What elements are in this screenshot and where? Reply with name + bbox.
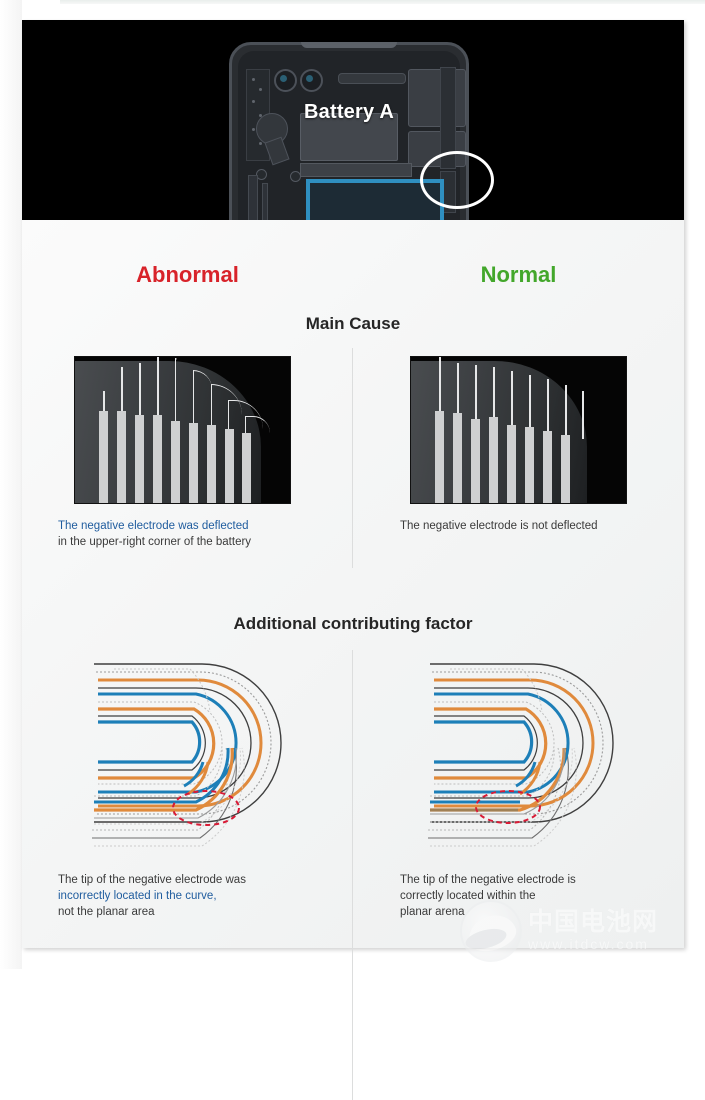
phone-teardown-illustration: Battery A — [229, 42, 469, 220]
section-title-additional-factor: Additional contributing factor — [22, 614, 684, 634]
column-header-abnormal: Abnormal — [22, 262, 353, 288]
column-header-normal: Normal — [353, 262, 684, 288]
column-divider-top — [352, 348, 353, 568]
additional-factor-abnormal-diagram — [84, 652, 334, 857]
screw-1 — [290, 171, 301, 182]
speaker-module — [338, 73, 406, 84]
jellyroll-winding-abnormal-svg — [84, 652, 334, 857]
column-headers: Abnormal Normal — [22, 262, 684, 296]
battery-label: Battery A — [232, 101, 466, 124]
phone-internals — [238, 51, 460, 220]
caption-main-cause-normal: The negative electrode is not deflected — [400, 518, 690, 534]
caption-line: not the planar area — [58, 904, 348, 920]
phone-earpiece — [301, 42, 397, 48]
watermark-site-url: www.itdcw.com — [528, 936, 649, 952]
comparison-panel: Abnormal Normal Main Cause — [22, 220, 684, 948]
infographic-card: Battery A Abnormal Normal Main Cause — [22, 20, 684, 948]
column-divider-bottom — [352, 650, 353, 1100]
additional-factor-normal-diagram — [398, 652, 648, 857]
highlight-circle-annotation — [420, 151, 494, 209]
caption-line-highlight: incorrectly located in the curve, — [58, 888, 348, 904]
left-cable-2 — [262, 183, 268, 220]
hero-teardown-photo: Battery A — [22, 20, 684, 220]
caption-line: The negative electrode is not deflected — [400, 518, 690, 534]
motor-bracket — [264, 137, 289, 166]
caption-line: in the upper-right corner of the battery — [58, 534, 348, 550]
caption-line: The tip of the negative electrode is — [400, 872, 690, 888]
section-title-main-cause: Main Cause — [22, 314, 684, 334]
caption-additional-factor-normal: The tip of the negative electrode is cor… — [400, 872, 690, 920]
rear-camera-1-icon — [274, 69, 297, 92]
page-root: Battery A Abnormal Normal Main Cause — [0, 0, 705, 969]
page-top-edge — [60, 0, 705, 4]
main-cause-abnormal-image — [74, 356, 291, 504]
antenna-strip — [300, 163, 412, 177]
page-left-edge — [0, 0, 22, 969]
caption-line: The tip of the negative electrode was — [58, 872, 348, 888]
main-cause-normal-image — [410, 356, 627, 504]
left-cable-1 — [248, 175, 258, 220]
jellyroll-winding-normal-svg — [398, 652, 648, 857]
caption-line: planar arena — [400, 904, 690, 920]
rear-camera-2-icon — [300, 69, 323, 92]
caption-line-highlight: The negative electrode was deflected — [58, 518, 348, 534]
caption-main-cause-abnormal: The negative electrode was deflected in … — [58, 518, 348, 550]
caption-line: correctly located within the — [400, 888, 690, 904]
caption-additional-factor-abnormal: The tip of the negative electrode was in… — [58, 872, 348, 920]
